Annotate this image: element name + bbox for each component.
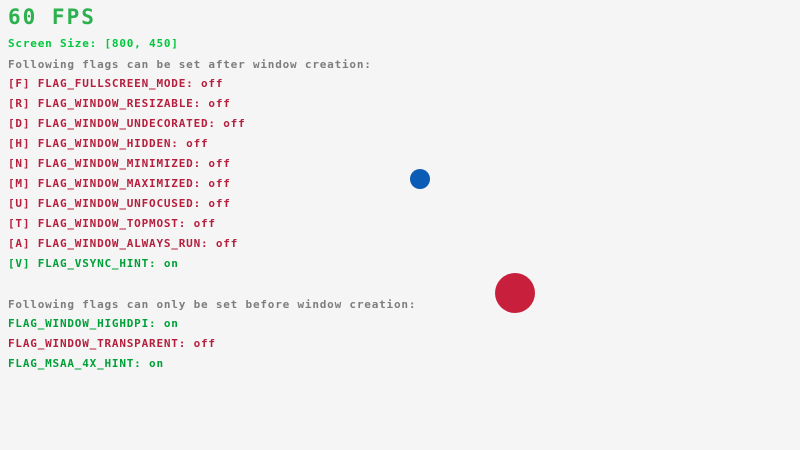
flag-row-window-minimized[interactable]: [N] FLAG_WINDOW_MINIMIZED: off bbox=[8, 158, 231, 169]
flag-row-window-resizable[interactable]: [R] FLAG_WINDOW_RESIZABLE: off bbox=[8, 98, 231, 109]
flag-row-window-undecorated[interactable]: [D] FLAG_WINDOW_UNDECORATED: off bbox=[8, 118, 246, 129]
flag-row-fullscreen-mode[interactable]: [F] FLAG_FULLSCREEN_MODE: off bbox=[8, 78, 223, 89]
section-header-before-creation: Following flags can only be set before w… bbox=[8, 299, 416, 310]
flag-row-window-unfocused[interactable]: [U] FLAG_WINDOW_UNFOCUSED: off bbox=[8, 198, 231, 209]
flag-row-window-transparent: FLAG_WINDOW_TRANSPARENT: off bbox=[8, 338, 216, 349]
app-canvas: 60 FPS Screen Size: [800, 450] Following… bbox=[0, 0, 800, 450]
flag-row-window-maximized[interactable]: [M] FLAG_WINDOW_MAXIMIZED: off bbox=[8, 178, 231, 189]
section-header-after-creation: Following flags can be set after window … bbox=[8, 59, 372, 70]
fps-counter: 60 FPS bbox=[8, 7, 96, 28]
flag-row-msaa-4x-hint: FLAG_MSAA_4X_HINT: on bbox=[8, 358, 164, 369]
large-red-ball bbox=[495, 273, 535, 313]
flag-row-window-hidden[interactable]: [H] FLAG_WINDOW_HIDDEN: off bbox=[8, 138, 208, 149]
flag-row-window-highdpi: FLAG_WINDOW_HIGHDPI: on bbox=[8, 318, 179, 329]
small-blue-ball bbox=[410, 169, 430, 189]
flag-row-window-topmost[interactable]: [T] FLAG_WINDOW_TOPMOST: off bbox=[8, 218, 216, 229]
screen-size-label: Screen Size: [800, 450] bbox=[8, 38, 179, 49]
flag-row-window-always-run[interactable]: [A] FLAG_WINDOW_ALWAYS_RUN: off bbox=[8, 238, 238, 249]
flag-row-vsync-hint[interactable]: [V] FLAG_VSYNC_HINT: on bbox=[8, 258, 179, 269]
